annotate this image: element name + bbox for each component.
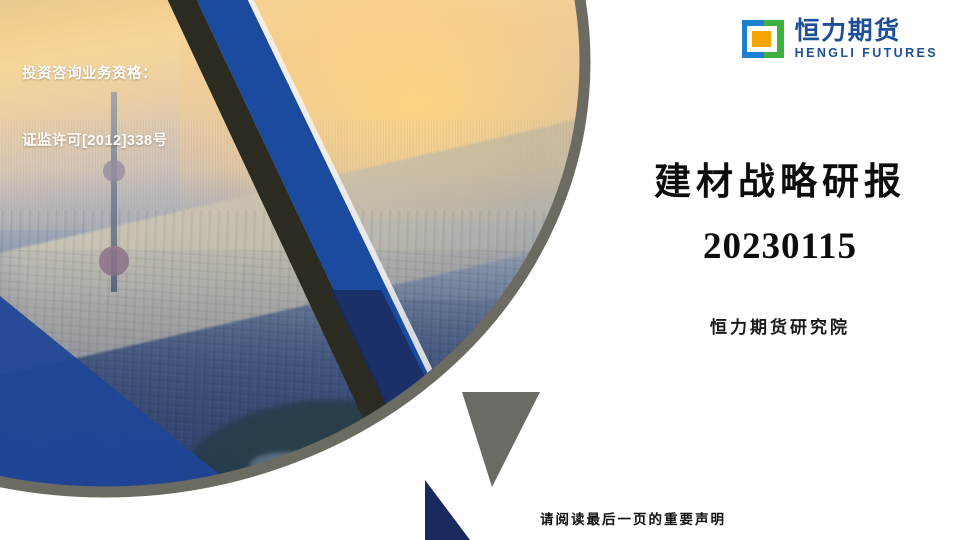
qualification-line-1: 投资咨询业务资格： xyxy=(22,63,168,85)
ribbon-grey-wedge xyxy=(462,392,540,487)
cover-title-block: 建材战略研报 20230115 恒力期货研究院 xyxy=(600,160,960,338)
page-title: 建材战略研报 xyxy=(600,160,960,206)
report-date: 20230115 xyxy=(600,227,960,268)
logo-wordmark: 恒力期货 HENGLI FUTURES xyxy=(795,18,938,60)
ribbon-white-chevron xyxy=(420,404,525,540)
company-logo: 恒力期货 HENGLI FUTURES xyxy=(742,18,938,60)
organization-name: 恒力期货研究院 xyxy=(600,313,960,338)
qualification-disclaimer: 投资咨询业务资格： 证监许可[2012]338号 xyxy=(22,18,168,198)
footer-disclaimer-note: 请阅读最后一页的重要声明 xyxy=(540,508,726,528)
presentation-slide: 投资咨询业务资格： 证监许可[2012]338号 恒力期货 HENGLI FUT… xyxy=(0,0,960,540)
qualification-line-2: 证监许可[2012]338号 xyxy=(22,130,168,152)
hengli-logo-mark-icon xyxy=(742,19,786,59)
ribbon-bottom-navy-triangle xyxy=(425,480,470,540)
logo-english-name: HENGLI FUTURES xyxy=(795,47,938,60)
logo-chinese-name: 恒力期货 xyxy=(795,18,938,43)
